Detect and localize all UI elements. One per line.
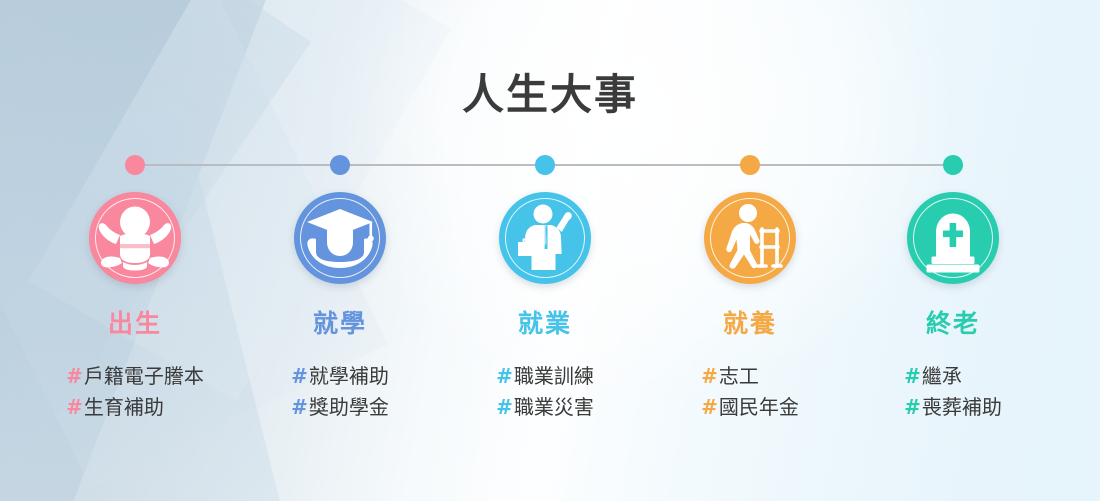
hash-icon: # [904,364,921,388]
hash-icon: # [701,364,718,388]
baby-icon [89,192,181,284]
tag-item[interactable]: #職業災害 [496,392,594,423]
tag-label: 喪葬補助 [922,395,1002,419]
stage-tag-list-school: #就學補助#獎助學金 [291,361,389,423]
tag-label: 生育補助 [84,395,164,419]
businessman-briefcase-icon [499,192,591,284]
tag-item[interactable]: #戶籍電子謄本 [66,361,204,392]
stage-label-work: 就業 [445,304,645,340]
tag-label: 志工 [719,364,759,388]
tag-item[interactable]: #職業訓練 [496,361,594,392]
tag-label: 戶籍電子謄本 [84,364,204,388]
stage-column-school[interactable]: 就學#就學補助#獎助學金 [240,192,440,423]
elderly-walker-icon [704,192,796,284]
stage-label-school: 就學 [240,304,440,340]
tombstone-icon [907,192,999,284]
tag-item[interactable]: #國民年金 [701,392,799,423]
hash-icon: # [496,364,513,388]
tag-label: 國民年金 [719,395,799,419]
hash-icon: # [291,395,308,419]
tag-item[interactable]: #志工 [701,361,799,392]
stage-icon-circle-birth[interactable] [89,192,181,284]
tag-label: 就學補助 [309,364,389,388]
hash-icon: # [701,395,718,419]
stage-column-work[interactable]: 就業#職業訓練#職業災害 [445,192,645,423]
tag-label: 獎助學金 [309,395,389,419]
hash-icon: # [904,395,921,419]
hash-icon: # [66,364,83,388]
page-title: 人生大事 [0,61,1100,122]
tag-item[interactable]: #生育補助 [66,392,204,423]
tag-item[interactable]: #獎助學金 [291,392,389,423]
tag-label: 職業災害 [514,395,594,419]
hash-icon: # [66,395,83,419]
tag-item[interactable]: #繼承 [904,361,1002,392]
tag-item[interactable]: #就學補助 [291,361,389,392]
stage-column-end[interactable]: 終老#繼承#喪葬補助 [853,192,1053,423]
infographic-root: 人生大事 出生#戶籍電子謄本#生育補助 就學#就學補助#獎助學金 [0,0,1100,501]
stage-tag-list-work: #職業訓練#職業災害 [496,361,594,423]
stage-column-birth[interactable]: 出生#戶籍電子謄本#生育補助 [35,192,235,423]
stage-tag-list-elder: #志工#國民年金 [701,361,799,423]
stage-tag-list-end: #繼承#喪葬補助 [904,361,1002,423]
tag-label: 繼承 [922,364,962,388]
stage-icon-circle-school[interactable] [294,192,386,284]
hash-icon: # [496,395,513,419]
tag-item[interactable]: #喪葬補助 [904,392,1002,423]
stage-tag-list-birth: #戶籍電子謄本#生育補助 [66,361,204,423]
stage-label-birth: 出生 [35,304,235,340]
stage-label-end: 終老 [853,304,1053,340]
stage-icon-circle-end[interactable] [907,192,999,284]
graduation-cap-icon [294,192,386,284]
stage-column-elder[interactable]: 就養#志工#國民年金 [650,192,850,423]
stage-icon-circle-elder[interactable] [704,192,796,284]
tag-label: 職業訓練 [514,364,594,388]
hash-icon: # [291,364,308,388]
stage-icon-circle-work[interactable] [499,192,591,284]
stage-label-elder: 就養 [650,304,850,340]
